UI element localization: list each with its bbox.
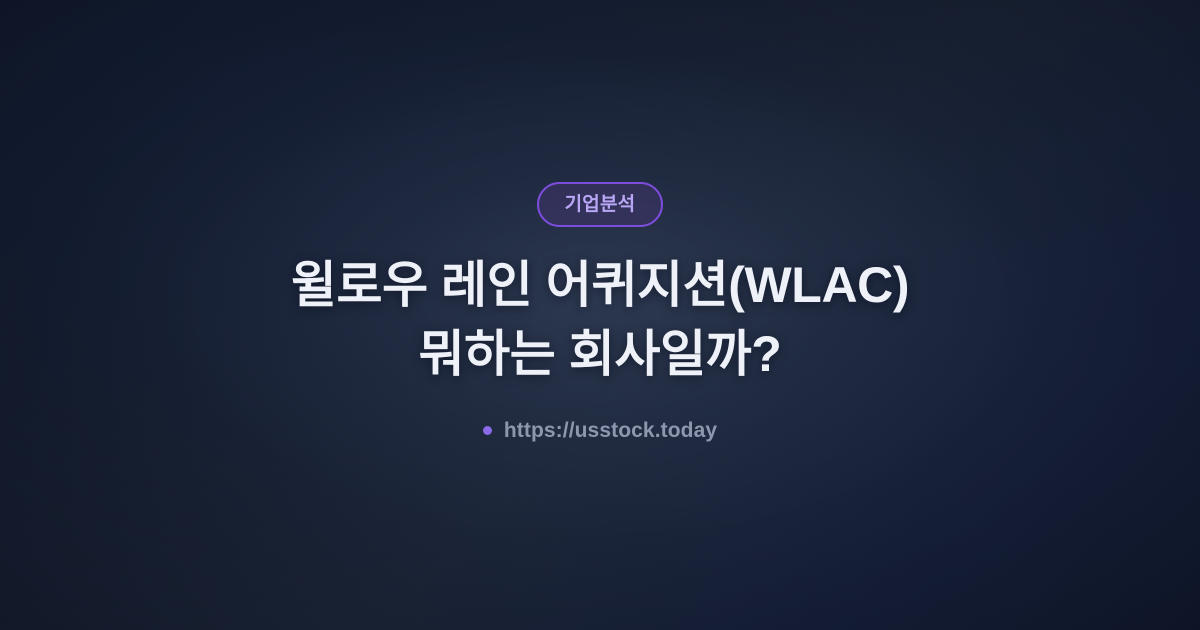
dot-icon: [483, 426, 492, 435]
card-content: 기업분석 윌로우 레인 어퀴지션(WLAC) 뭐하는 회사일까? https:/…: [0, 0, 1200, 630]
category-badge-label: 기업분석: [565, 195, 636, 214]
page-title: 윌로우 레인 어퀴지션(WLAC) 뭐하는 회사일까?: [291, 251, 909, 389]
og-image-card: 기업분석 윌로우 레인 어퀴지션(WLAC) 뭐하는 회사일까? https:/…: [0, 0, 1200, 630]
page-title-line-1: 윌로우 레인 어퀴지션(WLAC): [291, 251, 909, 320]
category-badge: 기업분석: [537, 182, 664, 227]
page-title-line-2: 뭐하는 회사일까?: [291, 320, 909, 389]
site-url-text: https://usstock.today: [504, 419, 717, 443]
site-url-row: https://usstock.today: [483, 419, 717, 443]
